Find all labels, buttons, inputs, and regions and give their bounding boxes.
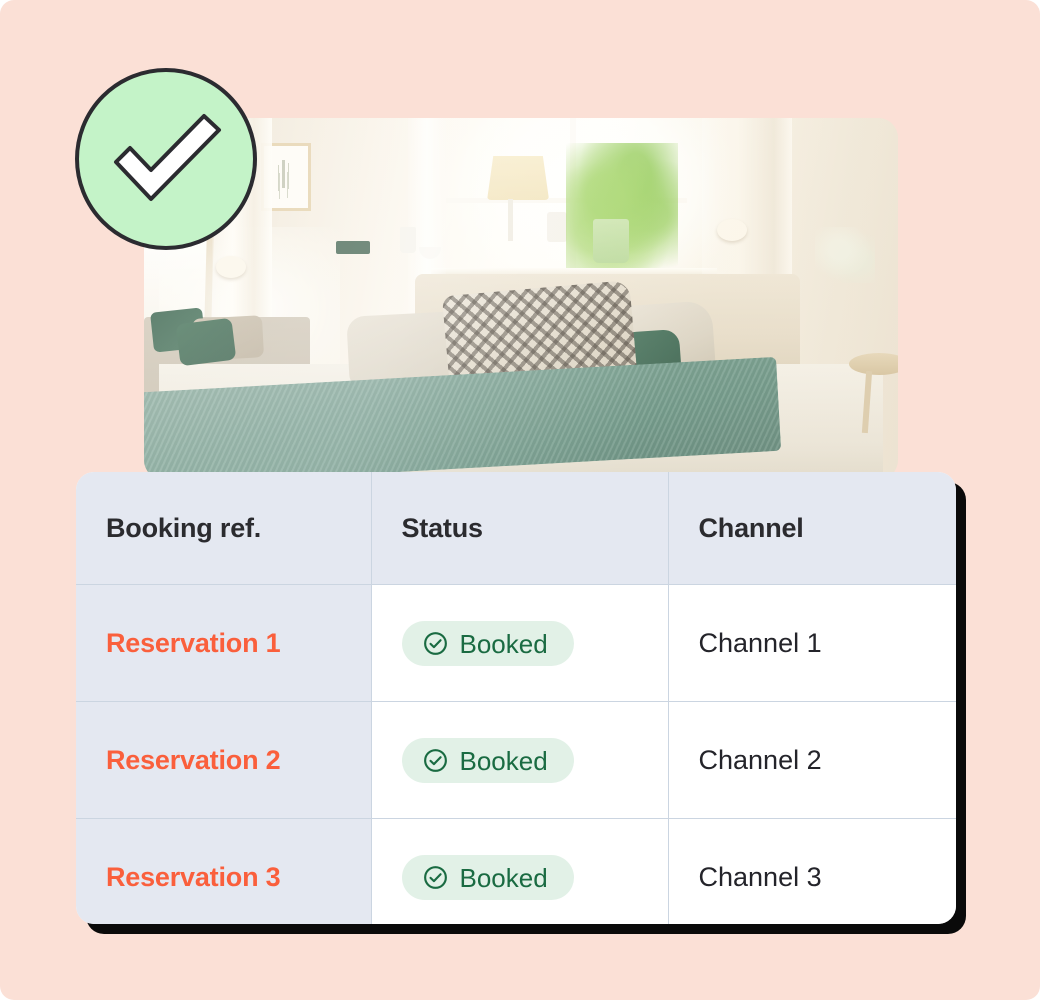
column-header-status: Status	[371, 472, 668, 585]
table-row: Reservation 2 Booked	[76, 702, 956, 819]
photo-curtain-tieback-left	[216, 256, 246, 278]
booking-ref-link[interactable]: Reservation 2	[106, 745, 280, 775]
status-badge: Booked	[402, 621, 574, 666]
table-row: Reservation 3 Booked	[76, 819, 956, 925]
photo-dried-stems	[815, 227, 875, 283]
page-canvas: Booking ref. Status Channel Reservation …	[0, 0, 1040, 1000]
status-badge: Booked	[402, 738, 574, 783]
table-body: Reservation 1 Booked	[76, 585, 956, 925]
column-header-channel: Channel	[668, 472, 956, 585]
photo-lamp-stem	[508, 199, 513, 241]
cell-channel: Channel 1	[668, 585, 956, 702]
status-badge-label: Booked	[460, 865, 548, 891]
photo-jug	[547, 212, 567, 242]
cell-booking-ref: Reservation 3	[76, 819, 371, 925]
booking-ref-link[interactable]: Reservation 3	[106, 862, 280, 892]
status-badge: Booked	[402, 855, 574, 900]
check-circle-icon	[73, 66, 259, 252]
column-header-booking-ref: Booking ref.	[76, 472, 371, 585]
cell-channel: Channel 3	[668, 819, 956, 925]
check-circle-icon	[422, 747, 449, 774]
status-badge-label: Booked	[460, 748, 548, 774]
photo-vase	[593, 219, 629, 263]
photo-green-pillow-far	[176, 317, 237, 366]
cell-status: Booked	[371, 702, 668, 819]
photo-lamp-shade	[487, 156, 549, 200]
check-circle-icon	[422, 864, 449, 891]
cell-booking-ref: Reservation 1	[76, 585, 371, 702]
reservations-table: Booking ref. Status Channel Reservation …	[76, 472, 956, 924]
reservations-table-card: Booking ref. Status Channel Reservation …	[76, 472, 956, 924]
cell-status: Booked	[371, 585, 668, 702]
check-circle-icon	[422, 630, 449, 657]
cell-channel: Channel 2	[668, 702, 956, 819]
photo-bottle	[400, 227, 416, 253]
table-header-row: Booking ref. Status Channel	[76, 472, 956, 585]
photo-green-box	[336, 241, 370, 254]
cell-status: Booked	[371, 819, 668, 925]
cell-booking-ref: Reservation 2	[76, 702, 371, 819]
table-header: Booking ref. Status Channel	[76, 472, 956, 585]
status-badge-label: Booked	[460, 631, 548, 657]
booking-ref-link[interactable]: Reservation 1	[106, 628, 280, 658]
table-row: Reservation 1 Booked	[76, 585, 956, 702]
